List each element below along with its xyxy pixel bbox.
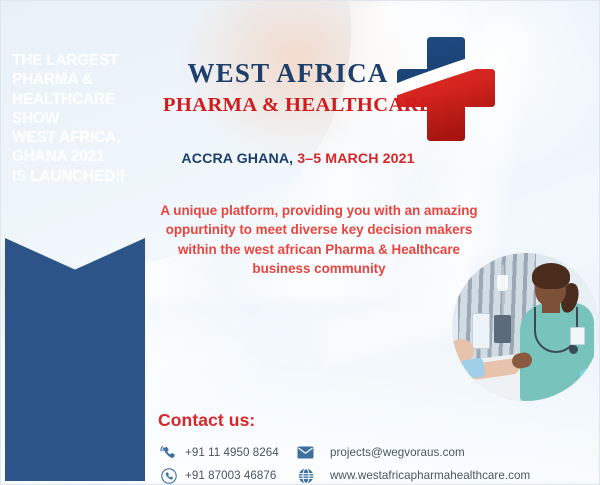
title-west-africa: WEST AFRICA	[163, 59, 413, 87]
photo-blood-pressure-cuff	[461, 358, 485, 380]
photo-nurse-hair	[532, 263, 570, 289]
banner-line: SHOW	[12, 109, 138, 128]
photo-wall-device	[472, 313, 490, 349]
photo-id-badge	[570, 327, 585, 345]
banner-line: PHARMA &	[12, 70, 138, 89]
contact-website[interactable]: www.westafricapharmahealthcare.com	[330, 469, 530, 482]
photo-glove	[580, 369, 597, 391]
contact-heading: Contact us:	[158, 410, 255, 431]
phone-ringing-icon	[158, 443, 179, 462]
logo-title-block: WEST AFRICA PHARMA & HEALTHCARE	[163, 59, 413, 117]
banner-line: THE LARGEST	[12, 51, 138, 70]
photo-iv-bag	[497, 275, 508, 291]
banner-line: GHANA 2021	[12, 147, 138, 166]
announcement-banner	[5, 238, 145, 481]
banner-line: IS LAUNCHED!!	[12, 167, 138, 186]
contact-row: +91 87003 46876 www.westafricapharmaheal…	[158, 464, 578, 485]
event-dates: 3–5 MARCH 2021	[297, 151, 414, 167]
contact-details: +91 11 4950 8264 projects@wegvoraus.com …	[158, 441, 578, 485]
contact-phone-2[interactable]: +91 87003 46876	[185, 469, 293, 482]
envelope-icon	[295, 443, 316, 462]
contact-row: +91 11 4950 8264 projects@wegvoraus.com	[158, 441, 578, 464]
announcement-banner-text: THE LARGEST PHARMA & HEALTHCARE SHOW WES…	[12, 51, 138, 186]
photo-monitor-device	[494, 315, 511, 343]
flyer-poster: WEST AFRICA PHARMA & HEALTHCARE ACCRA GH…	[0, 0, 600, 485]
contact-email[interactable]: projects@wegvoraus.com	[330, 446, 465, 459]
contact-phone-1[interactable]: +91 11 4950 8264	[185, 446, 293, 459]
nurse-with-patient-photo	[452, 253, 600, 401]
whatsapp-icon	[158, 466, 179, 485]
title-pharma-healthcare: PHARMA & HEALTHCARE	[163, 94, 413, 117]
event-location: ACCRA GHANA,	[181, 151, 297, 167]
banner-line: HEALTHCARE	[12, 90, 138, 109]
pitch-paragraph: A unique platform, providing you with an…	[159, 201, 479, 279]
banner-line: WEST AFRICA,	[12, 128, 138, 147]
globe-icon	[295, 466, 316, 485]
photo-stethoscope-bell	[569, 345, 578, 354]
event-details-line: ACCRA GHANA, 3–5 MARCH 2021	[163, 151, 433, 167]
